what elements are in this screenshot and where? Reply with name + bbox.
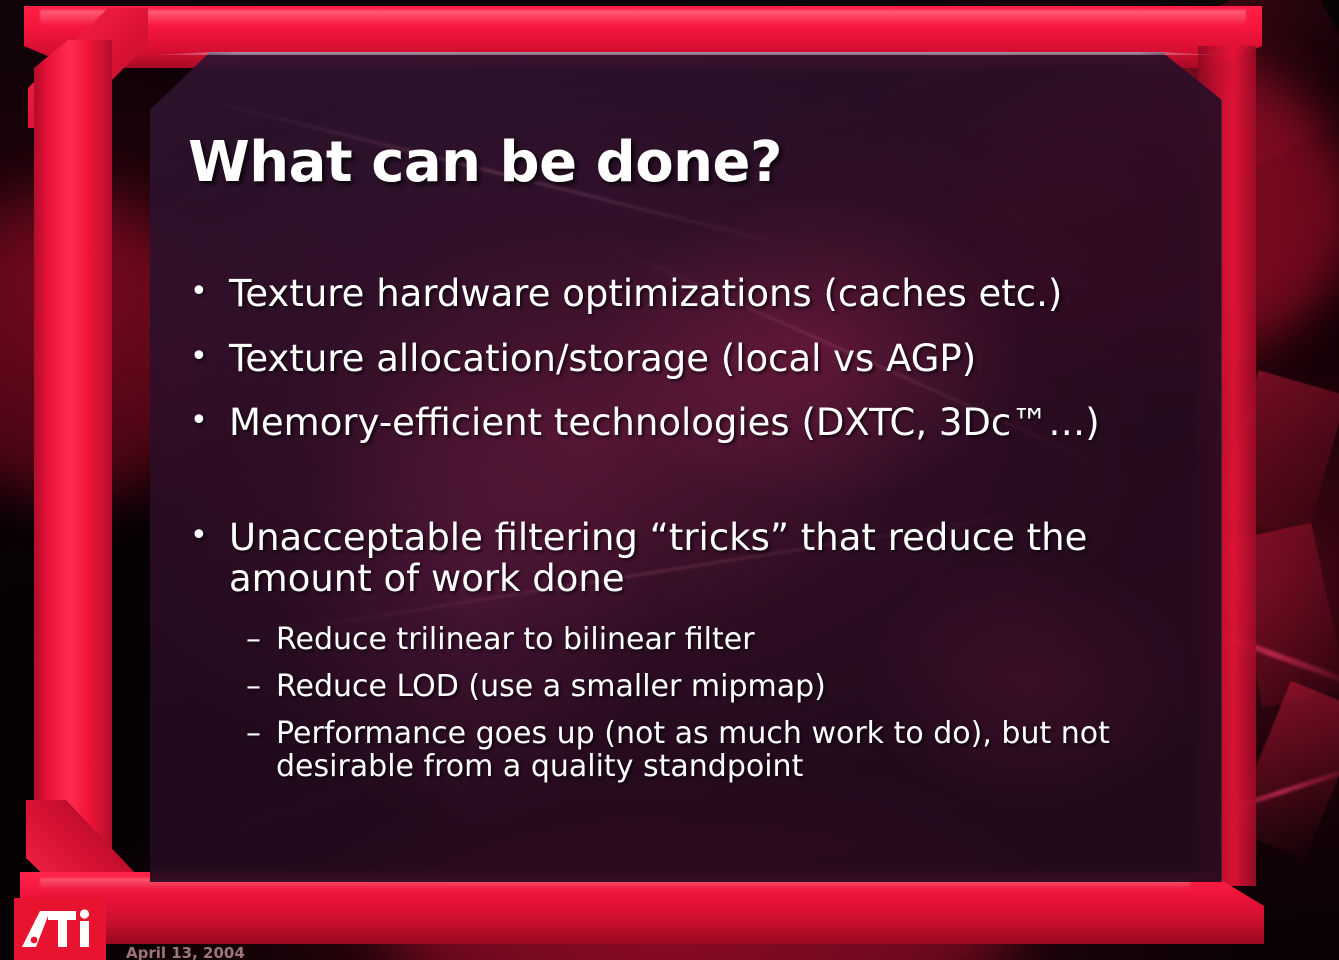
sub-bullet-item: Reduce trilinear to bilinear filter bbox=[246, 623, 1188, 657]
frame-top-highlight bbox=[40, 10, 1246, 26]
bullet-item: Memory-efficient technologies (DXTC, 3Dc… bbox=[178, 403, 1188, 444]
sub-bullet-item: Reduce LOD (use a smaller mipmap) bbox=[246, 670, 1188, 704]
frame-left-bar bbox=[34, 40, 112, 892]
bullet-item: Texture allocation/storage (local vs AGP… bbox=[178, 339, 1188, 380]
bullet-item: Unacceptable filtering “tricks” that red… bbox=[178, 518, 1188, 599]
slide-title: What can be done? bbox=[188, 130, 782, 195]
slide-content: What can be done? Texture hardware optim… bbox=[150, 52, 1222, 882]
presentation-slide: What can be done? Texture hardware optim… bbox=[0, 0, 1339, 960]
sub-bullet-list: Reduce trilinear to bilinear filter Redu… bbox=[178, 623, 1188, 783]
bullet-list: Texture hardware optimizations (caches e… bbox=[178, 274, 1188, 797]
footer-date: April 13, 2004 bbox=[126, 944, 245, 960]
ati-logo bbox=[14, 898, 106, 960]
bullet-item: Texture hardware optimizations (caches e… bbox=[178, 274, 1188, 315]
sub-bullet-item: Performance goes up (not as much work to… bbox=[246, 717, 1188, 784]
